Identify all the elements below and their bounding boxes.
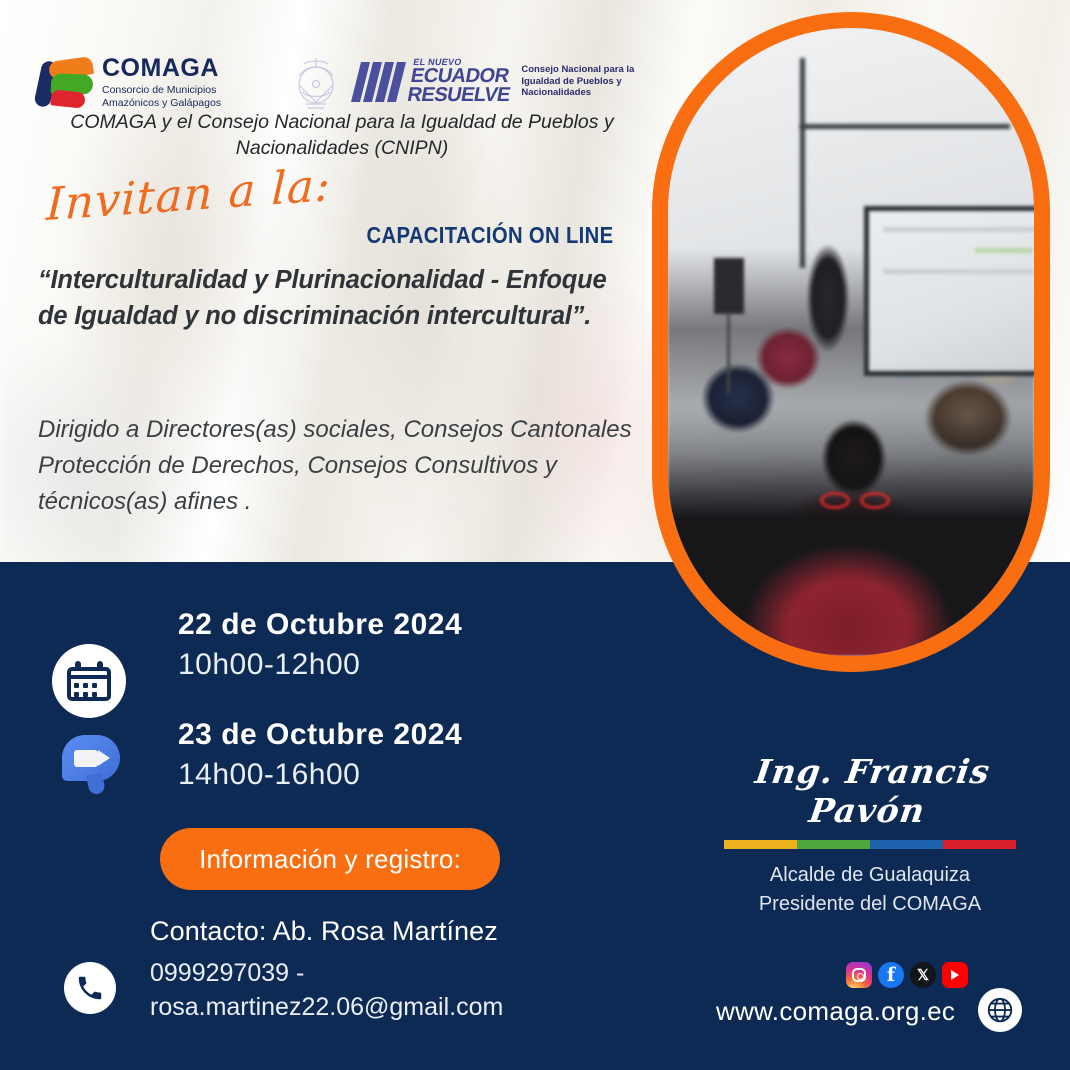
comaga-swoosh-icon <box>38 57 94 109</box>
signature-role-line1: Alcalde de Gualaquiza <box>700 861 1040 890</box>
ecuador-resuelve-logo: EL NUEVO ECUADOR RESUELVE Consejo Nacion… <box>356 58 660 105</box>
website-url[interactable]: www.comaga.org.ec <box>716 996 955 1027</box>
contact-details[interactable]: 0999297039 - rosa.martinez22.06@gmail.co… <box>150 957 620 1025</box>
organizers-line: COMAGA y el Consejo Nacional para la Igu… <box>42 110 642 161</box>
comaga-subtitle-line2: Amazónicos y Galápagos <box>102 97 221 110</box>
ecuador-line2: RESUELVE <box>406 86 512 105</box>
event-audience: Dirigido a Directores(as) sociales, Cons… <box>38 412 650 520</box>
instagram-icon[interactable] <box>846 962 872 988</box>
comaga-title: COMAGA <box>102 56 221 81</box>
signature-role-line2: Presidente del COMAGA <box>700 890 1040 919</box>
signature-name: Ing. Francis Pavón <box>695 752 1046 830</box>
tricolor-bar <box>724 840 1016 849</box>
event-title: “Interculturalidad y Plurinacionalidad -… <box>38 262 638 334</box>
ecuador-coat-of-arms-icon <box>290 54 342 112</box>
session-1: 22 de Octubre 2024 10h00-12h00 <box>178 608 462 682</box>
comaga-logo: COMAGA Consorcio de Municipios Amazónico… <box>38 56 221 110</box>
event-kicker: CAPACITACIÓN ON LINE <box>340 222 639 249</box>
contact-name: Contacto: Ab. Rosa Martínez <box>150 916 620 947</box>
social-links: f 𝕏 <box>846 962 968 988</box>
auditorium-photo-frame <box>652 12 1050 672</box>
ecuador-bars-icon <box>351 62 406 102</box>
session-2-time: 14h00-16h00 <box>178 758 462 792</box>
session-2: 23 de Octubre 2024 14h00-16h00 <box>178 718 462 792</box>
session-1-time: 10h00-12h00 <box>178 648 462 682</box>
registration-button[interactable]: Información y registro: <box>160 828 500 890</box>
session-1-date: 22 de Octubre 2024 <box>178 608 462 642</box>
session-2-date: 23 de Octubre 2024 <box>178 718 462 752</box>
x-twitter-icon[interactable]: 𝕏 <box>910 962 936 988</box>
red-glasses <box>820 492 890 509</box>
contact-block: Contacto: Ab. Rosa Martínez 0999297039 -… <box>150 916 620 1025</box>
cnipn-caption: Consejo Nacional para la Igualdad de Pue… <box>521 64 660 98</box>
comaga-subtitle-line1: Consorcio de Municipios <box>102 84 221 97</box>
projector-screen <box>864 206 1050 376</box>
calendar-icon <box>52 644 126 718</box>
youtube-icon[interactable] <box>942 962 968 988</box>
google-meet-video-icon <box>62 735 124 793</box>
globe-icon[interactable] <box>978 988 1022 1032</box>
speaker-box-icon <box>714 258 744 314</box>
signature-block: Ing. Francis Pavón Alcalde de Gualaquiza… <box>700 752 1040 919</box>
auditorium-photo <box>668 28 1034 656</box>
logo-bar: COMAGA Consorcio de Municipios Amazónico… <box>0 26 660 102</box>
phone-icon <box>64 962 116 1014</box>
facebook-icon[interactable]: f <box>878 962 904 988</box>
poster-canvas: COMAGA Consorcio de Municipios Amazónico… <box>0 0 1070 1070</box>
